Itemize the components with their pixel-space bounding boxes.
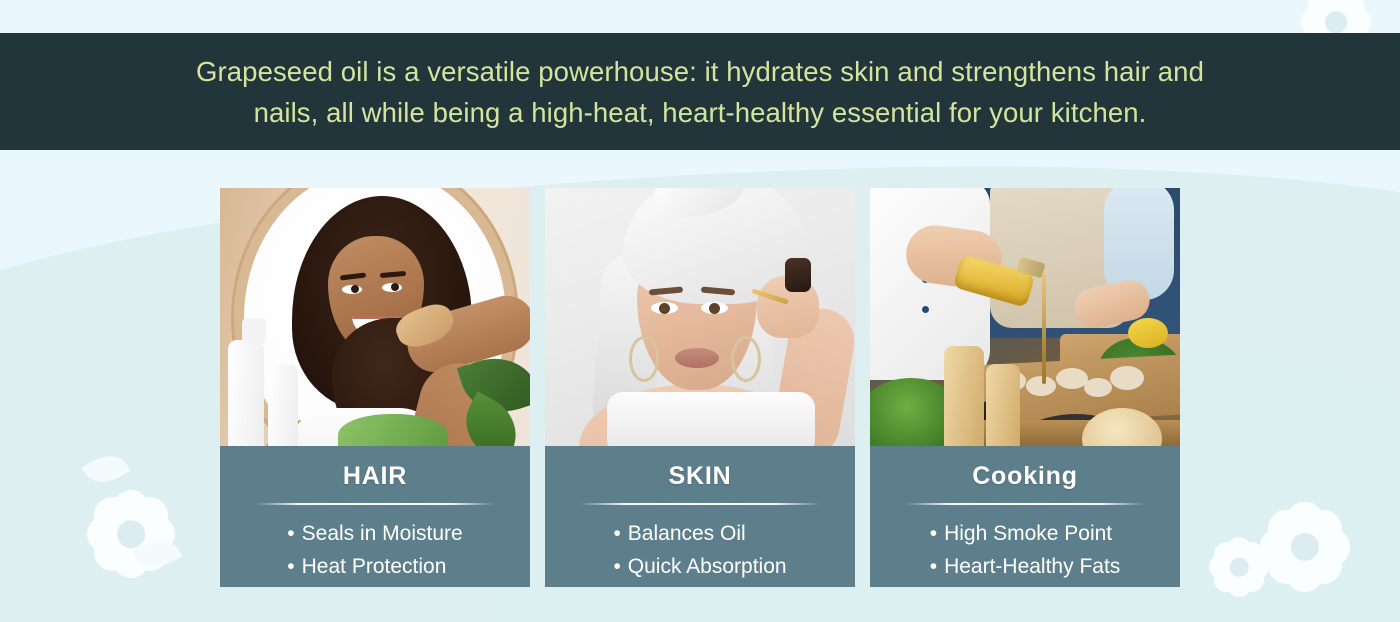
card-body-hair: HAIR •Seals in Moisture •Heat Protection (220, 446, 530, 587)
card-title-hair: HAIR (343, 464, 407, 489)
benefit-card-row: HAIR •Seals in Moisture •Heat Protection (220, 188, 1180, 587)
bullet-icon: • (287, 522, 294, 545)
flower-watermark-right-large (1258, 500, 1352, 594)
card-divider (255, 503, 495, 505)
benefit-list-cooking: •High Smoke Point •Heart-Healthy Fats (930, 517, 1121, 583)
benefit-text: Seals in Moisture (302, 522, 463, 545)
benefit-text: Balances Oil (628, 522, 746, 545)
list-item: •Heat Protection (287, 550, 462, 583)
card-body-skin: SKIN •Balances Oil •Quick Absorption (545, 446, 855, 587)
bullet-icon: • (287, 555, 294, 578)
card-photo-skin (545, 188, 855, 446)
card-title-skin: SKIN (669, 464, 732, 489)
card-body-cooking: Cooking •High Smoke Point •Heart-Healthy… (870, 446, 1180, 587)
bullet-icon: • (613, 555, 620, 578)
benefit-list-skin: •Balances Oil •Quick Absorption (613, 517, 786, 583)
list-item: •Balances Oil (613, 517, 786, 550)
headline-banner: Grapeseed oil is a versatile powerhouse:… (0, 33, 1400, 150)
card-title-cooking: Cooking (972, 464, 1078, 489)
benefit-list-hair: •Seals in Moisture •Heat Protection (287, 517, 462, 583)
card-photo-cooking (870, 188, 1180, 446)
bullet-icon: • (613, 522, 620, 545)
card-photo-hair (220, 188, 530, 446)
card-divider (905, 503, 1145, 505)
card-divider (580, 503, 820, 505)
list-item: •Heart-Healthy Fats (930, 550, 1121, 583)
bullet-icon: • (930, 555, 937, 578)
list-item: •Seals in Moisture (287, 517, 462, 550)
bullet-icon: • (930, 522, 937, 545)
benefit-text: Quick Absorption (628, 555, 787, 578)
benefit-card-cooking[interactable]: Cooking •High Smoke Point •Heart-Healthy… (870, 188, 1180, 587)
flower-watermark-right-small (1208, 536, 1270, 598)
benefit-text: Heat Protection (302, 555, 447, 578)
benefit-text: High Smoke Point (944, 522, 1112, 545)
benefit-card-hair[interactable]: HAIR •Seals in Moisture •Heat Protection (220, 188, 530, 587)
headline-text: Grapeseed oil is a versatile powerhouse:… (170, 51, 1230, 133)
benefit-text: Heart-Healthy Fats (944, 555, 1120, 578)
benefit-card-skin[interactable]: SKIN •Balances Oil •Quick Absorption (545, 188, 855, 587)
list-item: •Quick Absorption (613, 550, 786, 583)
flower-watermark-left (85, 488, 177, 580)
list-item: •High Smoke Point (930, 517, 1121, 550)
